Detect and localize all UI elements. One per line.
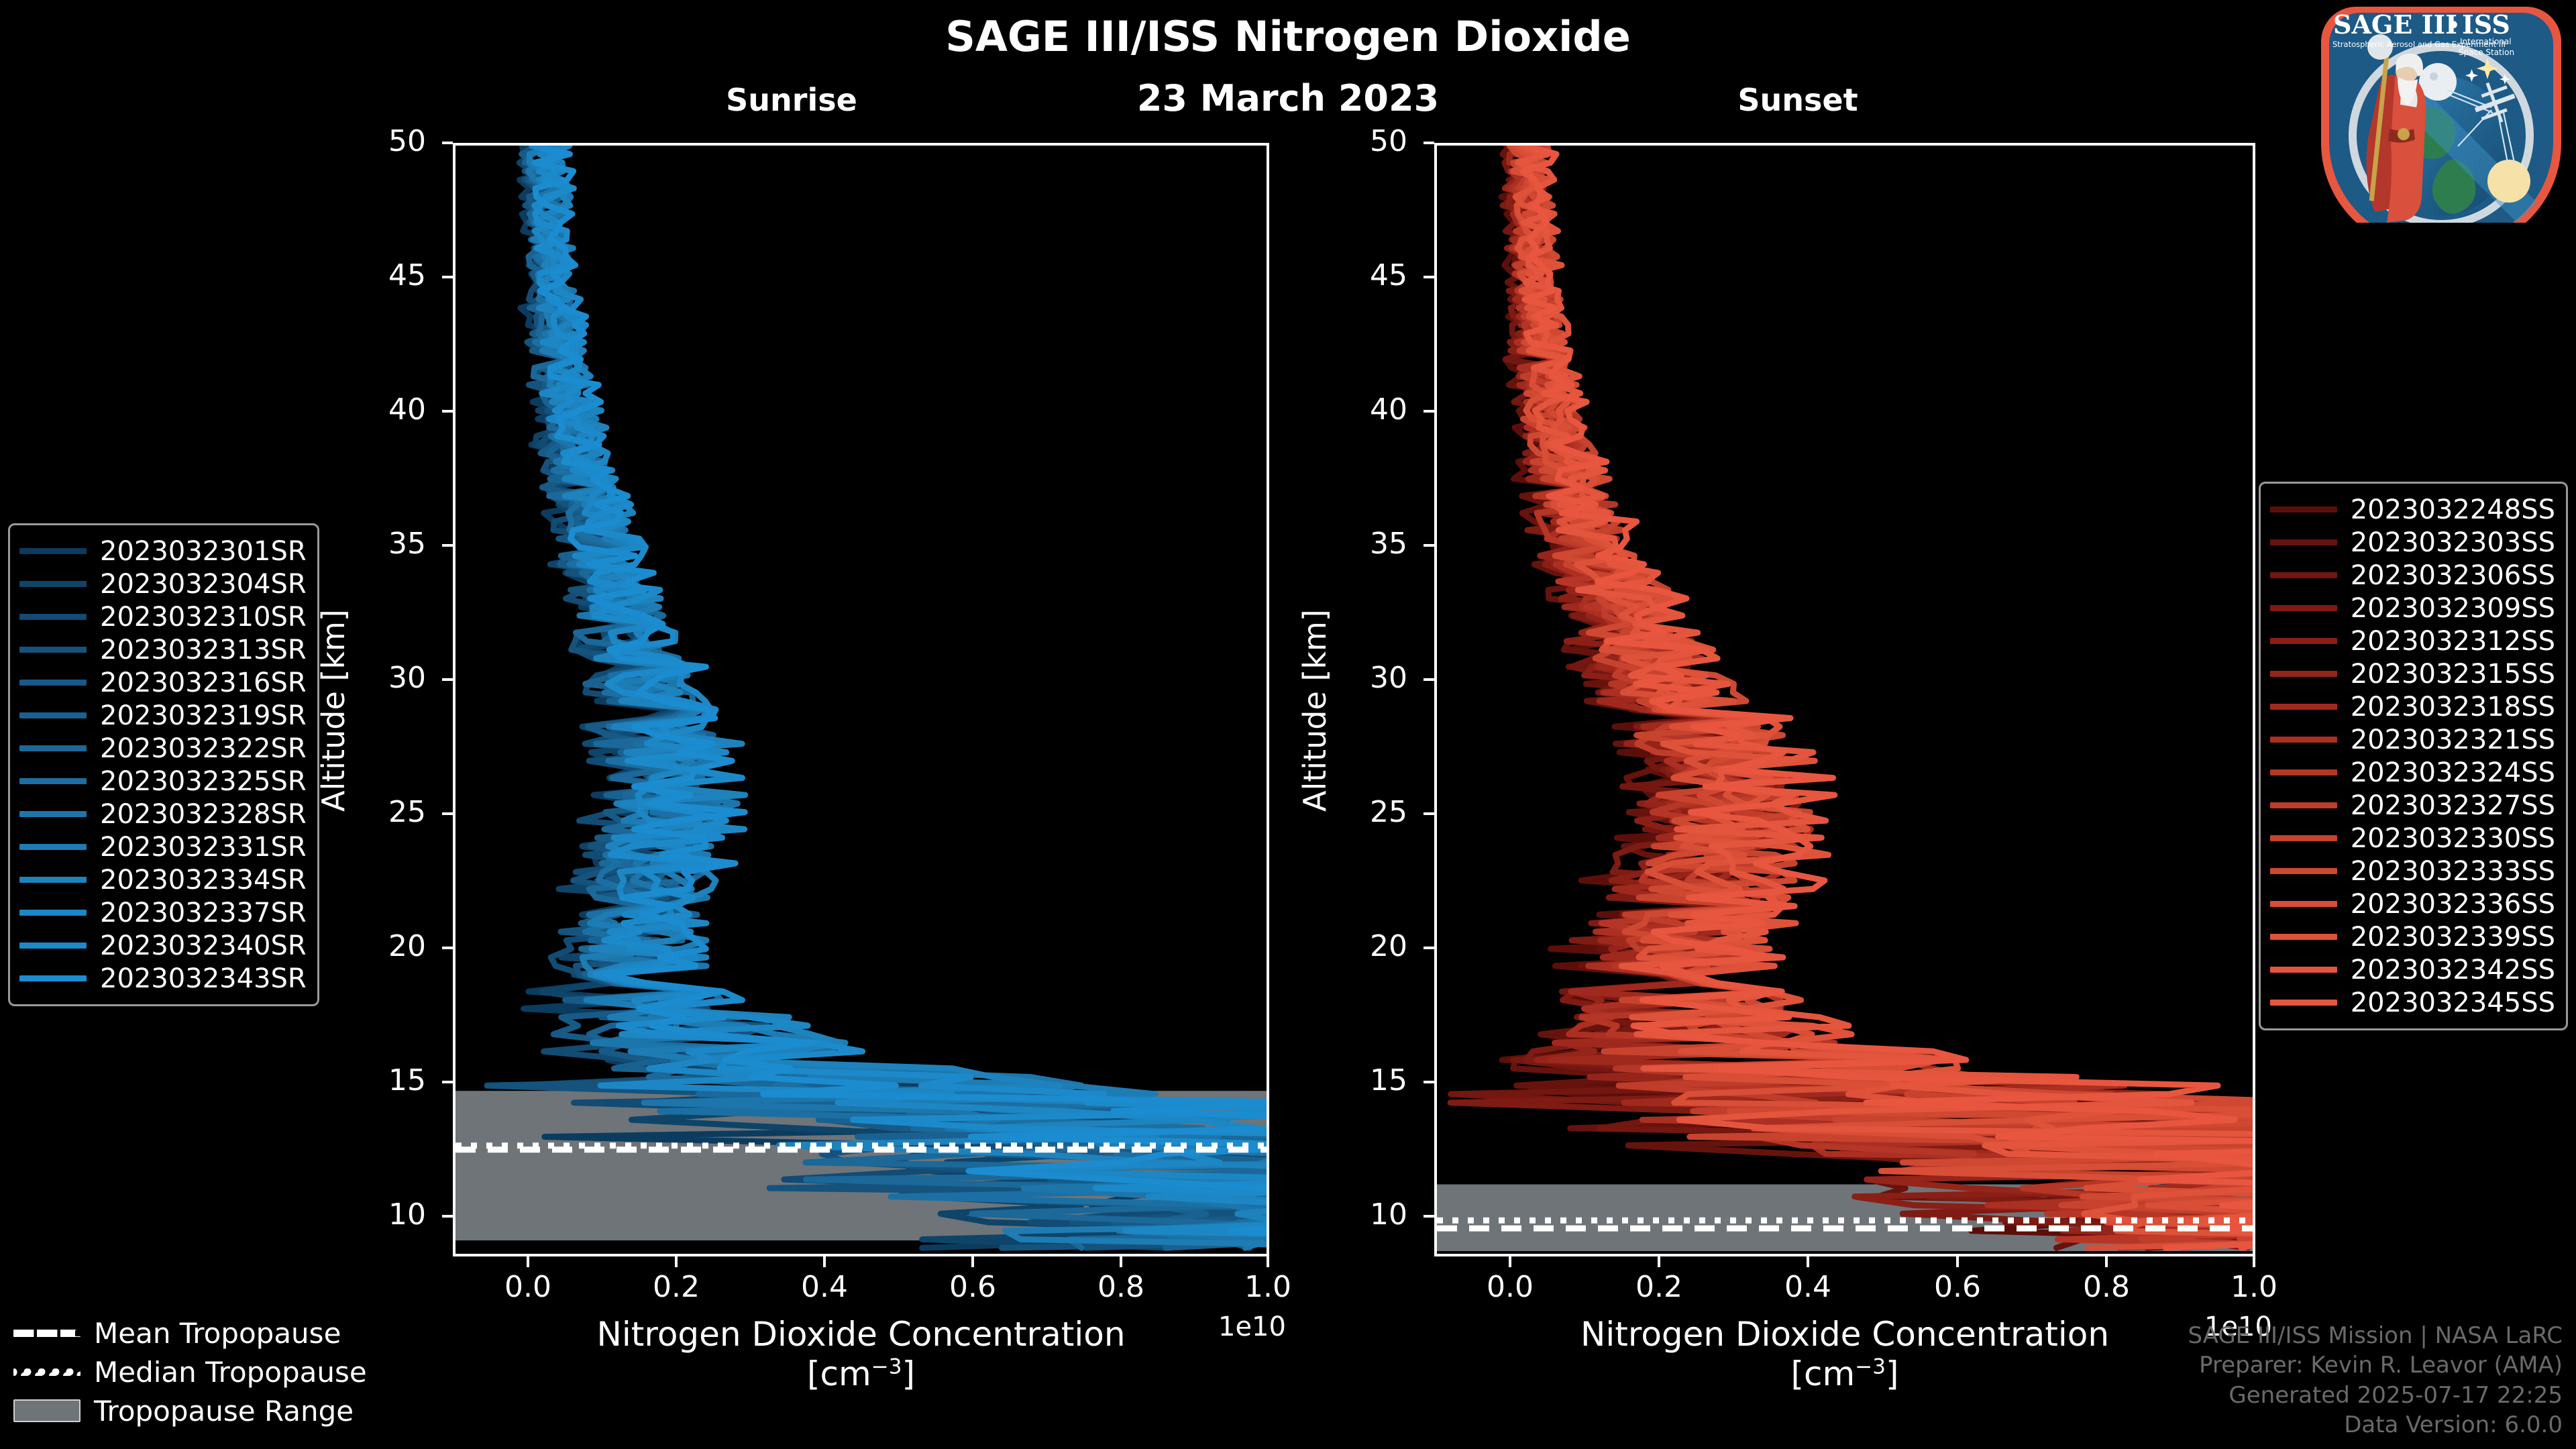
yaxis-label-right: Altitude [km] bbox=[1297, 609, 1333, 812]
legend-sunset[interactable]: 2023032248SS2023032303SS2023032306SS2023… bbox=[2259, 482, 2568, 1030]
legend-item-2023032336SS[interactable]: 2023032336SS bbox=[2270, 888, 2555, 920]
legend-item-mean-tropopause: Mean Tropopause bbox=[13, 1313, 367, 1352]
unit-pre: [cm bbox=[807, 1354, 871, 1393]
legend-swatch-line bbox=[2270, 638, 2337, 644]
ytick-left-35 bbox=[442, 544, 453, 547]
legend-item-2023032313SR[interactable]: 2023032313SR bbox=[19, 633, 307, 666]
legend-item-2023032316SR[interactable]: 2023032316SR bbox=[19, 666, 307, 699]
legend-item-2023032306SS[interactable]: 2023032306SS bbox=[2270, 559, 2555, 592]
legend-item-2023032340SR[interactable]: 2023032340SR bbox=[19, 929, 307, 962]
panel-title-sunset: Sunset bbox=[1677, 82, 1919, 118]
legend-item-2023032327SS[interactable]: 2023032327SS bbox=[2270, 789, 2555, 822]
legend-item-2023032318SS[interactable]: 2023032318SS bbox=[2270, 690, 2555, 723]
credits-line-mission: SAGE III/ISS Mission | NASA LaRC bbox=[2188, 1321, 2563, 1350]
xtick-left-0.6 bbox=[971, 1256, 974, 1267]
legend-item-2023032315SS[interactable]: 2023032315SS bbox=[2270, 657, 2555, 690]
ytick-right-45 bbox=[1424, 276, 1434, 278]
legend-tropopause: Mean TropopauseMedian TropopauseTropopau… bbox=[13, 1313, 367, 1430]
legend-sunrise[interactable]: 2023032301SR2023032304SR2023032310SR2023… bbox=[8, 523, 319, 1006]
ytick-left-20 bbox=[442, 947, 453, 949]
yticklabel-45: 45 bbox=[339, 258, 426, 292]
xticklabel-left-5: 1.0 bbox=[1214, 1270, 1322, 1304]
legend-swatch-patch bbox=[13, 1399, 80, 1422]
legend-swatch-line bbox=[19, 745, 87, 751]
legend-swatch-line bbox=[2270, 934, 2337, 940]
yticklabel-right-25: 25 bbox=[1320, 795, 1407, 829]
legend-swatch-line bbox=[2270, 769, 2337, 775]
legend-item-2023032301SR[interactable]: 2023032301SR bbox=[19, 535, 307, 568]
legend-swatch-line bbox=[19, 844, 87, 850]
legend-swatch-line bbox=[19, 614, 87, 620]
legend-item-label: 2023032340SR bbox=[100, 930, 307, 961]
yticklabel-right-45: 45 bbox=[1320, 258, 1407, 292]
legend-item-label: 2023032343SR bbox=[100, 963, 307, 994]
legend-item-2023032310SR[interactable]: 2023032310SR bbox=[19, 600, 307, 633]
plot-area-sunrise bbox=[453, 143, 1269, 1256]
ytick-right-20 bbox=[1424, 947, 1434, 949]
credits-line-version: Data Version: 6.0.0 bbox=[2188, 1410, 2563, 1440]
date-subtitle: 23 March 2023 bbox=[1046, 77, 1529, 119]
legend-item-label: 2023032334SR bbox=[100, 865, 307, 896]
xticklabel-left-2: 0.4 bbox=[771, 1270, 878, 1304]
xticklabel-left-3: 0.6 bbox=[919, 1270, 1026, 1304]
ytick-right-30 bbox=[1424, 678, 1434, 681]
mission-patch-icon: BALL • NASA LANGLEY RESEARCH CENTER • TA… bbox=[2316, 1, 2567, 223]
panel-title-sunrise: Sunrise bbox=[671, 82, 912, 118]
legend-item-label: 2023032312SS bbox=[2351, 626, 2555, 657]
sage-iii-iss-logo: BALL • NASA LANGLEY RESEARCH CENTER • TA… bbox=[2316, 1, 2567, 223]
legend-swatch-line bbox=[19, 712, 87, 718]
xaxis-label-right-line2: [cm−3] bbox=[1434, 1354, 2255, 1394]
xtick-right-0.0 bbox=[1509, 1256, 1511, 1267]
legend-item-label: 2023032313SR bbox=[100, 635, 307, 665]
legend-item-2023032328SR[interactable]: 2023032328SR bbox=[19, 798, 307, 830]
logo-title-iss: ISS bbox=[2462, 9, 2510, 40]
logo-subtitle-right-1: International bbox=[2460, 37, 2512, 46]
xticklabel-right-5: 1.0 bbox=[2200, 1270, 2308, 1304]
legend-item-label: 2023032304SR bbox=[100, 569, 307, 600]
yticklabel-right-20: 20 bbox=[1320, 929, 1407, 963]
yticklabel-right-15: 15 bbox=[1320, 1063, 1407, 1097]
legend-swatch-line bbox=[2270, 539, 2337, 545]
legend-item-label: 2023032339SS bbox=[2351, 922, 2555, 953]
legend-item-2023032312SS[interactable]: 2023032312SS bbox=[2270, 625, 2555, 657]
legend-swatch-line bbox=[2270, 506, 2337, 513]
xticklabel-left-0: 0.0 bbox=[474, 1270, 582, 1304]
xaxis-label-left-line1: Nitrogen Dioxide Concentration bbox=[453, 1315, 1269, 1354]
xtick-right-1.0 bbox=[2253, 1256, 2255, 1267]
legend-item-label: 2023032331SR bbox=[100, 832, 307, 863]
sunset-profile-canvas bbox=[1437, 146, 2253, 1254]
unit-post: ] bbox=[902, 1354, 915, 1393]
legend-item-label: 2023032321SS bbox=[2351, 724, 2555, 755]
xticklabel-right-2: 0.4 bbox=[1754, 1270, 1862, 1304]
legend-item-median-tropopause: Median Tropopause bbox=[13, 1352, 367, 1391]
xtick-right-0.4 bbox=[1807, 1256, 1809, 1267]
legend-item-2023032330SS[interactable]: 2023032330SS bbox=[2270, 822, 2555, 855]
legend-item-label: 2023032328SR bbox=[100, 799, 307, 830]
ytick-left-30 bbox=[442, 678, 453, 681]
legend-swatch-line bbox=[2270, 835, 2337, 841]
ytick-left-40 bbox=[442, 410, 453, 413]
legend-swatch-dotted bbox=[13, 1368, 80, 1376]
xaxis-label-right: Nitrogen Dioxide Concentration [cm−3] bbox=[1434, 1315, 2255, 1394]
ytick-left-10 bbox=[442, 1215, 453, 1218]
legend-item-2023032304SR[interactable]: 2023032304SR bbox=[19, 568, 307, 600]
legend-item-label: 2023032327SS bbox=[2351, 790, 2555, 821]
xtick-left-0.8 bbox=[1120, 1256, 1122, 1267]
legend-item-2023032345SS[interactable]: 2023032345SS bbox=[2270, 986, 2555, 1019]
ytick-right-10 bbox=[1424, 1215, 1434, 1218]
legend-swatch-line bbox=[2270, 572, 2337, 578]
legend-swatch-line bbox=[2270, 704, 2337, 710]
unit-pre: [cm bbox=[1791, 1354, 1856, 1393]
legend-item-2023032321SS[interactable]: 2023032321SS bbox=[2270, 723, 2555, 756]
ytick-left-50 bbox=[442, 142, 453, 144]
logo-subtitle-right-2: Space Station bbox=[2459, 48, 2514, 57]
legend-item-2023032339SS[interactable]: 2023032339SS bbox=[2270, 920, 2555, 953]
legend-swatch-line bbox=[19, 647, 87, 653]
legend-item-label: 2023032342SS bbox=[2351, 955, 2555, 985]
xaxis-label-left: Nitrogen Dioxide Concentration [cm−3] bbox=[453, 1315, 1269, 1394]
unit-exponent: −3 bbox=[871, 1354, 902, 1379]
ytick-right-50 bbox=[1424, 142, 1434, 144]
ytick-right-25 bbox=[1424, 812, 1434, 815]
xtick-left-0.2 bbox=[675, 1256, 678, 1267]
legend-item-label: 2023032333SS bbox=[2351, 856, 2555, 887]
legend-item-2023032342SS[interactable]: 2023032342SS bbox=[2270, 953, 2555, 986]
yticklabel-right-10: 10 bbox=[1320, 1197, 1407, 1232]
legend-item-label: 2023032322SR bbox=[100, 733, 307, 764]
xaxis-label-left-line2: [cm−3] bbox=[453, 1354, 1269, 1394]
legend-item-label: 2023032319SR bbox=[100, 700, 307, 731]
legend-item-2023032319SR[interactable]: 2023032319SR bbox=[19, 699, 307, 732]
xtick-right-0.6 bbox=[1956, 1256, 1959, 1267]
legend-item-label: 2023032301SR bbox=[100, 536, 307, 567]
legend-swatch-line bbox=[19, 778, 87, 784]
legend-item-label: Tropopause Range bbox=[94, 1395, 354, 1428]
yticklabel-right-30: 30 bbox=[1320, 661, 1407, 695]
legend-item-label: 2023032345SS bbox=[2351, 987, 2555, 1018]
legend-item-label: 2023032318SS bbox=[2351, 692, 2555, 722]
xticklabel-left-1: 0.2 bbox=[623, 1270, 730, 1304]
ytick-left-45 bbox=[442, 276, 453, 278]
legend-swatch-line bbox=[2270, 671, 2337, 677]
legend-item-label: 2023032315SS bbox=[2351, 659, 2555, 690]
legend-swatch-line bbox=[2270, 802, 2337, 808]
legend-item-2023032309SS[interactable]: 2023032309SS bbox=[2270, 592, 2555, 625]
legend-item-label: 2023032316SR bbox=[100, 667, 307, 698]
legend-item-2023032333SS[interactable]: 2023032333SS bbox=[2270, 855, 2555, 888]
sun-icon bbox=[2487, 160, 2530, 203]
legend-swatch-line bbox=[19, 877, 87, 883]
legend-swatch-line bbox=[19, 548, 87, 554]
legend-swatch-line bbox=[19, 581, 87, 587]
legend-item-label: 2023032336SS bbox=[2351, 889, 2555, 920]
legend-item-label: 2023032337SR bbox=[100, 898, 307, 928]
legend-swatch-dashed bbox=[13, 1330, 80, 1337]
legend-item-label: 2023032306SS bbox=[2351, 560, 2555, 591]
yticklabel-right-40: 40 bbox=[1320, 392, 1407, 427]
yaxis-label-left: Altitude [km] bbox=[315, 609, 352, 812]
yticklabel-right-35: 35 bbox=[1320, 527, 1407, 561]
legend-item-label: 2023032324SS bbox=[2351, 757, 2555, 788]
xticklabel-right-4: 0.8 bbox=[2053, 1270, 2160, 1304]
xticklabel-left-4: 0.8 bbox=[1067, 1270, 1175, 1304]
legend-item-label: 2023032309SS bbox=[2351, 593, 2555, 624]
legend-swatch-line bbox=[19, 680, 87, 686]
ytick-left-25 bbox=[442, 812, 453, 815]
sunrise-profile-canvas bbox=[455, 146, 1267, 1254]
legend-item-2023032324SS[interactable]: 2023032324SS bbox=[2270, 756, 2555, 789]
legend-swatch-line bbox=[2270, 868, 2337, 874]
legend-swatch-line bbox=[19, 943, 87, 949]
yticklabel-50: 50 bbox=[339, 124, 426, 158]
yticklabel-35: 35 bbox=[339, 527, 426, 561]
yticklabel-20: 20 bbox=[339, 929, 426, 963]
xaxis-label-right-line1: Nitrogen Dioxide Concentration bbox=[1434, 1315, 2255, 1354]
legend-item-label: 2023032303SS bbox=[2351, 527, 2555, 558]
legend-swatch-line bbox=[19, 975, 87, 981]
legend-item-2023032322SR[interactable]: 2023032322SR bbox=[19, 732, 307, 765]
credits-block: SAGE III/ISS Mission | NASA LaRC Prepare… bbox=[2188, 1321, 2563, 1440]
yticklabel-right-50: 50 bbox=[1320, 124, 1407, 158]
xtick-left-0.4 bbox=[823, 1256, 826, 1267]
xtick-left-0.0 bbox=[527, 1256, 529, 1267]
legend-item-2023032337SR[interactable]: 2023032337SR bbox=[19, 896, 307, 929]
unit-exponent: −3 bbox=[1855, 1354, 1886, 1379]
page-title: SAGE III/ISS Nitrogen Dioxide bbox=[0, 12, 2576, 61]
credits-line-preparer: Preparer: Kevin R. Leavor (AMA) bbox=[2188, 1350, 2563, 1380]
yticklabel-25: 25 bbox=[339, 795, 426, 829]
xtick-right-0.8 bbox=[2105, 1256, 2108, 1267]
legend-item-label: Median Tropopause bbox=[94, 1356, 367, 1389]
ytick-right-40 bbox=[1424, 410, 1434, 413]
yticklabel-40: 40 bbox=[339, 392, 426, 427]
logo-title-dot: • bbox=[2447, 14, 2460, 38]
legend-item-2023032331SR[interactable]: 2023032331SR bbox=[19, 830, 307, 863]
yticklabel-10: 10 bbox=[339, 1197, 426, 1232]
legend-item-label: 2023032310SR bbox=[100, 602, 307, 633]
legend-swatch-line bbox=[2270, 737, 2337, 743]
xticklabel-right-1: 0.2 bbox=[1605, 1270, 1713, 1304]
credits-line-generated: Generated 2025-07-17 22:25 bbox=[2188, 1381, 2563, 1410]
legend-swatch-line bbox=[19, 910, 87, 916]
xtick-right-0.2 bbox=[1658, 1256, 1660, 1267]
legend-item-2023032343SR[interactable]: 2023032343SR bbox=[19, 962, 307, 995]
yticklabel-30: 30 bbox=[339, 661, 426, 695]
legend-item-label: Mean Tropopause bbox=[94, 1317, 341, 1350]
legend-item-2023032325SR[interactable]: 2023032325SR bbox=[19, 765, 307, 798]
legend-item-label: 2023032325SR bbox=[100, 766, 307, 797]
xtick-left-1.0 bbox=[1267, 1256, 1269, 1267]
ytick-right-35 bbox=[1424, 544, 1434, 547]
xticklabel-right-0: 0.0 bbox=[1456, 1270, 1564, 1304]
legend-swatch-line bbox=[2270, 967, 2337, 973]
plot-area-sunset bbox=[1434, 143, 2255, 1256]
moon-crater bbox=[2430, 72, 2438, 80]
legend-swatch-line bbox=[2270, 1000, 2337, 1006]
legend-swatch-line bbox=[2270, 605, 2337, 611]
legend-swatch-line bbox=[19, 811, 87, 817]
legend-swatch-line bbox=[2270, 901, 2337, 907]
yticklabel-15: 15 bbox=[339, 1063, 426, 1097]
legend-item-label: 2023032248SS bbox=[2351, 494, 2555, 525]
ytick-right-15 bbox=[1424, 1081, 1434, 1083]
legend-item-2023032334SR[interactable]: 2023032334SR bbox=[19, 863, 307, 896]
legend-item-2023032248SS[interactable]: 2023032248SS bbox=[2270, 493, 2555, 526]
legend-item-label: 2023032330SS bbox=[2351, 823, 2555, 854]
xticklabel-right-3: 0.6 bbox=[1904, 1270, 2011, 1304]
ytick-left-15 bbox=[442, 1081, 453, 1083]
logo-title-sage: SAGE III bbox=[2333, 9, 2457, 40]
legend-item-tropopause-range: Tropopause Range bbox=[13, 1391, 367, 1430]
unit-post: ] bbox=[1886, 1354, 1899, 1393]
legend-item-2023032303SS[interactable]: 2023032303SS bbox=[2270, 526, 2555, 559]
